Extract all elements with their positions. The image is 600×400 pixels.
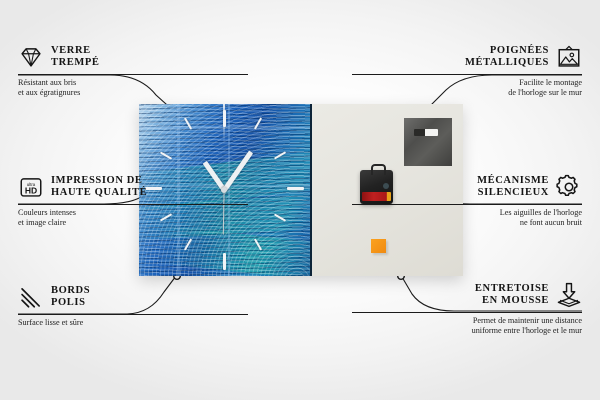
clock-tick-3 bbox=[287, 187, 304, 190]
foam-spacer bbox=[371, 239, 386, 253]
feature-header: ultra HD IMPRESSION DE HAUTE QUALITÉ bbox=[18, 174, 248, 200]
feature-title: IMPRESSION DE HAUTE QUALITÉ bbox=[51, 175, 147, 200]
feature-poignees-metalliques: POIGNÉES MÉTALLIQUES Facilite le montage… bbox=[352, 44, 582, 98]
feature-title: POIGNÉES MÉTALLIQUES bbox=[465, 45, 549, 70]
feature-divider bbox=[18, 204, 248, 205]
feature-description: Permet de maintenir une distance uniform… bbox=[352, 316, 582, 336]
picture-frame-hanger-icon bbox=[556, 44, 582, 70]
feature-impression-hd: ultra HD IMPRESSION DE HAUTE QUALITÉ Cou… bbox=[18, 174, 248, 228]
feature-header: POIGNÉES MÉTALLIQUES bbox=[352, 44, 582, 70]
feature-title: BORDS POLIS bbox=[51, 285, 90, 310]
feature-description: Résistant aux bris et aux égratignures bbox=[18, 78, 248, 98]
feature-title: VERRE TREMPÉ bbox=[51, 45, 100, 70]
feature-description: Couleurs intenses et image claire bbox=[18, 208, 248, 228]
feature-divider bbox=[18, 314, 248, 315]
feature-mecanisme-silencieux: MÉCANISME SILENCIEUX Les aiguilles de l'… bbox=[352, 174, 582, 228]
feature-header: ENTRETOISE EN MOUSSE bbox=[352, 282, 582, 308]
feature-header: MÉCANISME SILENCIEUX bbox=[352, 174, 582, 200]
feature-entretoise-mousse: ENTRETOISE EN MOUSSE Permet de maintenir… bbox=[352, 282, 582, 336]
feature-divider bbox=[352, 204, 582, 205]
feature-description: Les aiguilles de l'horloge ne font aucun… bbox=[352, 208, 582, 228]
feature-title: ENTRETOISE EN MOUSSE bbox=[475, 283, 549, 308]
ultra-hd-badge-icon: ultra HD bbox=[18, 174, 44, 200]
diagonal-lines-icon bbox=[18, 284, 44, 310]
arrow-into-layers-icon bbox=[556, 282, 582, 308]
feature-verre-trempe: VERRE TREMPÉ Résistant aux bris et aux é… bbox=[18, 44, 248, 98]
feature-title: MÉCANISME SILENCIEUX bbox=[477, 175, 549, 200]
feature-header: BORDS POLIS bbox=[18, 284, 248, 310]
feature-description: Facilite le montage de l'horloge sur le … bbox=[352, 78, 582, 98]
clock-tick-12 bbox=[223, 110, 226, 127]
metal-hanger-plate bbox=[404, 118, 452, 166]
gear-icon bbox=[556, 174, 582, 200]
feature-header: VERRE TREMPÉ bbox=[18, 44, 248, 70]
feature-divider bbox=[18, 74, 248, 75]
feature-bords-polis: BORDS POLIS Surface lisse et sûre bbox=[18, 284, 248, 328]
infographic-canvas: VERRE TREMPÉ Résistant aux bris et aux é… bbox=[0, 0, 600, 400]
feature-divider bbox=[352, 312, 582, 313]
badge-hd-text: HD bbox=[25, 186, 37, 196]
diamond-icon bbox=[18, 44, 44, 70]
feature-divider bbox=[352, 74, 582, 75]
clock-tick-6 bbox=[223, 253, 226, 270]
feature-description: Surface lisse et sûre bbox=[18, 318, 248, 328]
